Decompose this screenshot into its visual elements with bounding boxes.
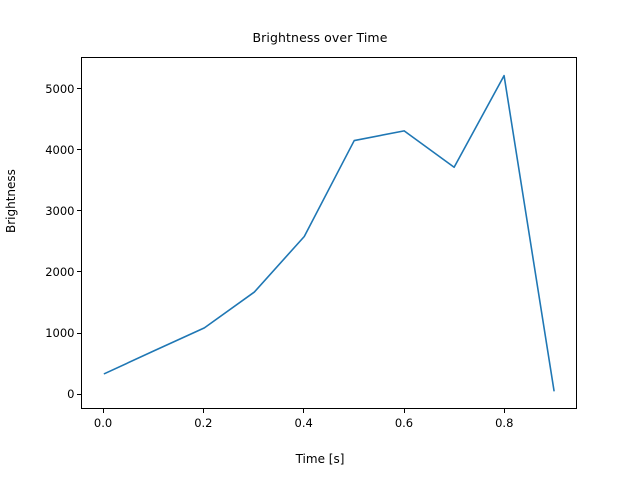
x-tick-label: 0.6 (395, 416, 413, 430)
x-tick-label: 0.0 (94, 416, 112, 430)
x-tick-mark (504, 409, 505, 413)
x-tick-label: 0.2 (194, 416, 212, 430)
x-tick-mark (303, 409, 304, 413)
y-tick-mark (77, 394, 81, 395)
y-tick-mark (77, 210, 81, 211)
x-axis-label: Time [s] (0, 452, 640, 466)
line-series-brightness (82, 58, 577, 408)
data-polyline (104, 76, 554, 391)
y-tick-mark (77, 88, 81, 89)
x-tick-mark (203, 409, 204, 413)
plot-axes (81, 57, 578, 409)
y-tick-mark (77, 333, 81, 334)
x-tick-label: 0.8 (495, 416, 513, 430)
y-tick-label: 0 (28, 387, 75, 401)
y-tick-label: 3000 (28, 204, 75, 218)
x-tick-mark (404, 409, 405, 413)
y-tick-label: 5000 (28, 82, 75, 96)
y-tick-label: 1000 (28, 326, 75, 340)
y-tick-mark (77, 149, 81, 150)
y-axis-label: Brightness (4, 169, 18, 233)
x-tick-label: 0.4 (295, 416, 313, 430)
chart-title: Brightness over Time (0, 30, 640, 45)
y-tick-label: 2000 (28, 265, 75, 279)
y-tick-label: 4000 (28, 143, 75, 157)
matplotlib-figure: Brightness over Time 0100020003000400050… (0, 0, 640, 480)
y-tick-mark (77, 271, 81, 272)
x-tick-mark (103, 409, 104, 413)
